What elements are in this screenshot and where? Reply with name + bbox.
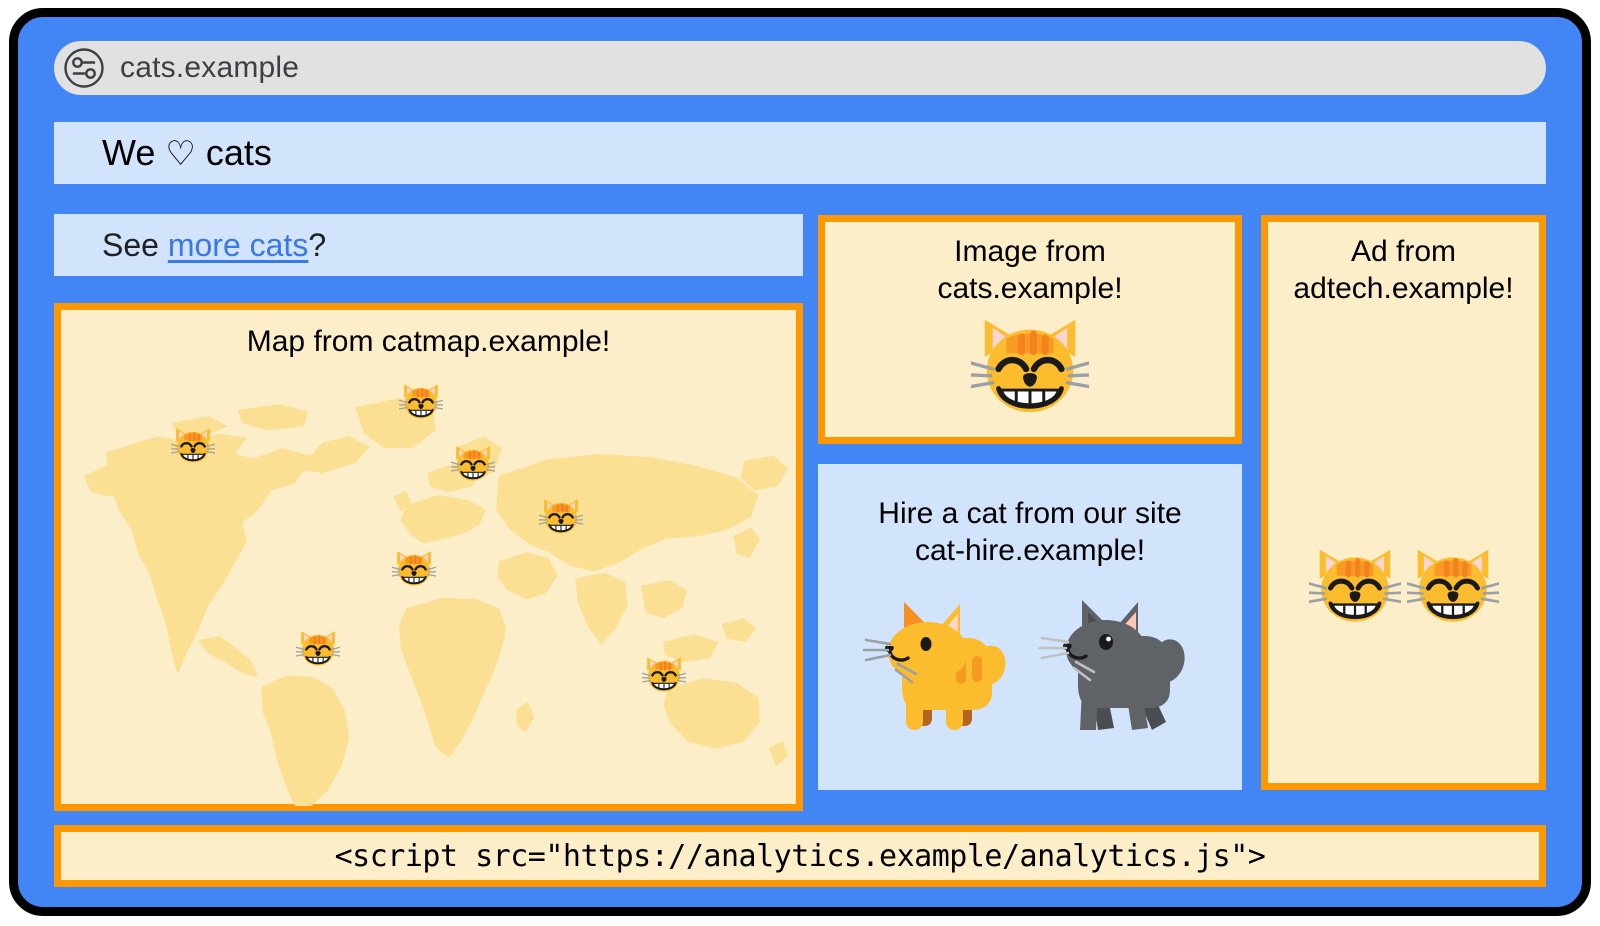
more-cats-link[interactable]: more cats bbox=[168, 227, 308, 263]
see-more-suffix: ? bbox=[308, 227, 326, 263]
map-panel[interactable]: Map from catmap.example! bbox=[54, 303, 803, 811]
hire-cat-illustrations bbox=[860, 588, 1200, 743]
ad-panel-title-line2: adtech.example! bbox=[1293, 272, 1513, 305]
tune-sliders-icon[interactable] bbox=[62, 46, 106, 90]
map-panel-title: Map from catmap.example! bbox=[61, 324, 796, 361]
headline-banner: We ♡ cats bbox=[54, 122, 1546, 184]
browser-window: cats.example We ♡ cats See more cats? Ma… bbox=[9, 8, 1591, 916]
image-panel-title-line2: cats.example! bbox=[937, 272, 1122, 305]
grinning-cat-face-icon bbox=[1407, 542, 1499, 633]
ad-panel-title: Ad fromadtech.example! bbox=[1287, 234, 1519, 308]
image-panel-title-line1: Image from bbox=[954, 235, 1106, 268]
ad-panel-title-line1: Ad from bbox=[1351, 235, 1456, 268]
script-tag-code: <script src="https://analytics.example/a… bbox=[335, 839, 1266, 874]
world-map[interactable] bbox=[61, 366, 796, 806]
grey-cat-icon bbox=[1034, 588, 1200, 743]
ad-cat-illustrations bbox=[1268, 542, 1539, 633]
hire-panel-title-line2: cat-hire.example! bbox=[915, 534, 1145, 567]
asia-marker[interactable] bbox=[539, 495, 583, 536]
grinning-cat-face-icon bbox=[971, 310, 1089, 425]
page-title: We ♡ cats bbox=[102, 132, 272, 174]
see-more-text: See more cats? bbox=[102, 227, 326, 264]
africa-north-marker[interactable] bbox=[392, 548, 436, 589]
north-america-marker[interactable] bbox=[171, 425, 215, 466]
orange-cat-icon bbox=[860, 588, 1020, 743]
europe-south-marker[interactable] bbox=[451, 442, 495, 483]
heart-icon: ♡ bbox=[165, 134, 195, 174]
see-more-banner: See more cats? bbox=[54, 214, 803, 276]
grinning-cat-face-icon bbox=[1309, 542, 1401, 633]
oceania-marker[interactable] bbox=[642, 654, 686, 695]
south-america-marker[interactable] bbox=[296, 627, 340, 668]
hire-panel-title: Hire a cat from our sitecat-hire.example… bbox=[872, 496, 1187, 570]
ad-panel[interactable]: Ad fromadtech.example! bbox=[1261, 215, 1546, 790]
hire-panel[interactable]: Hire a cat from our sitecat-hire.example… bbox=[818, 464, 1242, 790]
headline-suffix: cats bbox=[196, 132, 272, 173]
image-panel-title: Image fromcats.example! bbox=[931, 234, 1128, 308]
address-bar-url[interactable]: cats.example bbox=[120, 51, 299, 85]
image-panel[interactable]: Image fromcats.example! bbox=[818, 215, 1242, 444]
hire-panel-title-line1: Hire a cat from our site bbox=[878, 497, 1181, 530]
headline-prefix: We bbox=[102, 132, 165, 173]
address-bar[interactable]: cats.example bbox=[54, 41, 1546, 95]
europe-north-marker[interactable] bbox=[399, 381, 443, 422]
see-more-prefix: See bbox=[102, 227, 168, 263]
script-tag-bar: <script src="https://analytics.example/a… bbox=[54, 825, 1546, 887]
